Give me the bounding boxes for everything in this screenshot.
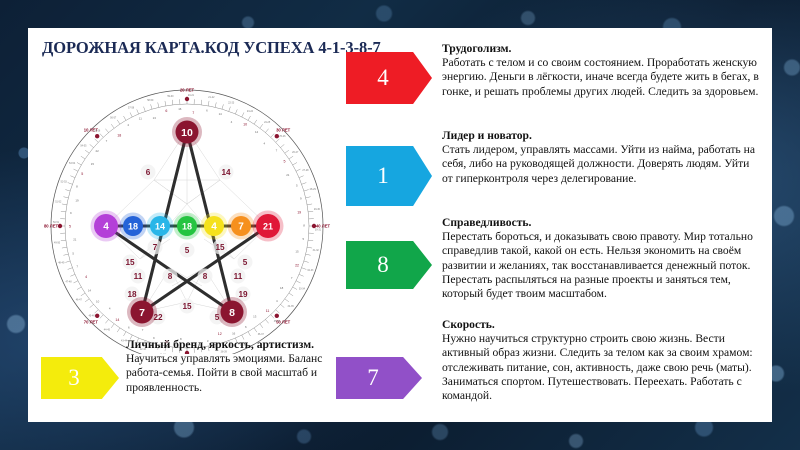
arrow-badge-4[interactable]: 4	[346, 52, 432, 104]
svg-text:15: 15	[295, 250, 299, 254]
svg-text:58-59: 58-59	[147, 99, 154, 102]
svg-text:25-26: 25-26	[279, 135, 286, 138]
svg-text:22: 22	[96, 149, 100, 153]
text-block-leader: Лидер и новатор. Стать лидером, управлят…	[442, 129, 760, 186]
svg-text:8: 8	[303, 224, 305, 228]
svg-text:4: 4	[276, 299, 278, 303]
body-workaholism: Работать с телом и со своим состоянием. …	[442, 56, 759, 97]
text-block-workaholism: Трудоголизм. Работать с телом и со своим…	[442, 42, 760, 99]
svg-text:4: 4	[103, 222, 109, 233]
svg-text:11: 11	[266, 309, 270, 313]
heading-brand: Личный бренд, яркость, артистизм.	[126, 338, 314, 351]
svg-text:18: 18	[127, 290, 137, 299]
svg-text:11: 11	[134, 272, 143, 281]
svg-text:15: 15	[125, 258, 135, 267]
svg-text:21: 21	[263, 222, 273, 232]
svg-text:5: 5	[69, 224, 71, 228]
svg-text:14: 14	[88, 289, 92, 293]
svg-text:4: 4	[127, 123, 129, 127]
svg-text:7: 7	[142, 328, 144, 332]
svg-text:7: 7	[192, 111, 194, 115]
svg-text:48-49: 48-49	[58, 262, 65, 265]
svg-text:7: 7	[76, 264, 78, 268]
svg-text:5: 5	[81, 172, 83, 176]
svg-text:30 ЛЕТ: 30 ЛЕТ	[276, 127, 291, 132]
svg-text:7: 7	[238, 222, 244, 233]
content-card: ДОРОЖНАЯ КАРТА.КОД УСПЕХА 4-1-3-8-7 20 Л…	[28, 28, 772, 422]
svg-text:14: 14	[219, 112, 223, 116]
svg-text:22: 22	[295, 264, 299, 268]
svg-text:70 ЛЕТ: 70 ЛЕТ	[84, 320, 99, 325]
svg-text:32-33: 32-33	[307, 269, 314, 272]
svg-text:53-54: 53-54	[69, 162, 76, 165]
svg-text:49-50: 49-50	[54, 241, 61, 244]
svg-text:4: 4	[231, 120, 233, 124]
svg-text:19: 19	[75, 198, 79, 202]
text-block-justice: Справедливость. Перестать бороться, и до…	[442, 216, 760, 301]
svg-text:36-37: 36-37	[258, 333, 265, 336]
svg-text:7: 7	[153, 243, 158, 252]
svg-text:14: 14	[255, 130, 259, 134]
svg-text:4: 4	[109, 306, 111, 310]
svg-text:23-24: 23-24	[247, 110, 254, 113]
svg-text:80 ЛЕТ: 80 ЛЕТ	[44, 224, 59, 229]
svg-text:6: 6	[146, 168, 151, 177]
svg-text:19: 19	[238, 290, 248, 299]
svg-text:46-47: 46-47	[76, 299, 83, 302]
svg-text:54-55: 54-55	[80, 145, 87, 148]
text-block-brand: Личный бренд, яркость, артистизм. Научит…	[126, 338, 336, 395]
svg-text:55-56: 55-56	[94, 129, 101, 132]
svg-text:16: 16	[232, 331, 236, 335]
svg-text:20-21: 20-21	[188, 94, 195, 97]
svg-text:9: 9	[300, 197, 302, 201]
heading-justice: Справедливость.	[442, 216, 531, 229]
svg-text:22-23: 22-23	[228, 101, 235, 104]
svg-text:18: 18	[117, 134, 121, 138]
svg-text:21: 21	[73, 237, 77, 241]
svg-text:14: 14	[115, 318, 119, 322]
svg-text:52-53: 52-53	[61, 181, 68, 184]
svg-text:19: 19	[297, 211, 301, 215]
svg-text:33-34: 33-34	[299, 288, 306, 291]
body-leader: Стать лидером, управлять массами. Уйти и…	[442, 143, 755, 184]
arrow-badge-7[interactable]: 7	[336, 357, 422, 399]
svg-text:20 ЛЕТ: 20 ЛЕТ	[180, 88, 195, 93]
svg-text:4: 4	[85, 275, 87, 279]
svg-text:24-25: 24-25	[264, 121, 271, 124]
svg-text:13: 13	[253, 314, 257, 318]
svg-text:18: 18	[182, 222, 192, 232]
svg-text:5: 5	[296, 184, 298, 188]
svg-text:5: 5	[284, 159, 286, 163]
svg-text:7: 7	[291, 276, 293, 280]
svg-text:44-45: 44-45	[104, 328, 111, 331]
svg-text:4: 4	[211, 222, 217, 233]
arrow-badge-1-label: 1	[377, 163, 389, 189]
svg-text:47-48: 47-48	[65, 281, 72, 284]
svg-text:16: 16	[178, 107, 182, 111]
svg-text:9: 9	[70, 211, 72, 215]
svg-text:11: 11	[139, 117, 142, 121]
svg-text:8: 8	[168, 272, 173, 281]
svg-text:11: 11	[234, 272, 243, 281]
svg-text:57-58: 57-58	[128, 106, 135, 109]
body-speed: Нужно научиться структурно строить свою …	[442, 332, 753, 402]
svg-text:21-22: 21-22	[208, 96, 215, 99]
svg-text:6: 6	[165, 109, 167, 113]
svg-text:12: 12	[218, 332, 222, 336]
card-corner-notch	[28, 364, 120, 422]
svg-text:6: 6	[245, 325, 247, 329]
svg-text:7: 7	[276, 149, 278, 153]
body-justice: Перестать бороться, и доказывать свою пр…	[442, 230, 753, 300]
svg-text:28-29: 28-29	[310, 188, 317, 191]
svg-text:6: 6	[128, 326, 130, 330]
body-brand: Научиться управлять эмоциями. Баланс раб…	[126, 352, 322, 393]
svg-text:30-31: 30-31	[315, 229, 322, 232]
svg-text:18: 18	[280, 286, 284, 290]
svg-text:45-46: 45-46	[89, 315, 96, 318]
svg-text:50-51: 50-51	[53, 221, 60, 224]
svg-text:35-36: 35-36	[274, 320, 281, 323]
arrow-badge-8[interactable]: 8	[346, 241, 432, 289]
arrow-badge-7-label: 7	[367, 365, 379, 391]
svg-text:15: 15	[215, 243, 225, 252]
svg-text:4: 4	[263, 142, 265, 146]
text-block-speed: Скорость. Нужно научиться структурно стр…	[442, 318, 764, 403]
svg-text:31-32: 31-32	[313, 249, 320, 252]
svg-text:14: 14	[221, 168, 231, 177]
svg-text:15: 15	[91, 162, 95, 166]
svg-text:6: 6	[206, 109, 208, 113]
svg-text:5: 5	[302, 237, 304, 241]
svg-text:7: 7	[106, 139, 108, 143]
svg-text:18: 18	[128, 222, 138, 232]
pentagram-svg: 20 ЛЕТ30 ЛЕТ40 ЛЕТ50 ЛЕТ60 ЛЕТ70 ЛЕТ80 Л…	[30, 54, 370, 354]
arrow-badge-1[interactable]: 1	[346, 146, 432, 206]
svg-text:56-57: 56-57	[110, 117, 117, 120]
svg-text:10: 10	[96, 299, 100, 303]
arrow-badge-8-label: 8	[377, 252, 389, 278]
svg-text:5: 5	[243, 258, 248, 267]
svg-text:29-30: 29-30	[314, 208, 321, 211]
svg-text:10: 10	[243, 122, 247, 126]
svg-text:14: 14	[155, 222, 165, 232]
svg-text:8: 8	[229, 307, 235, 319]
svg-text:51-52: 51-52	[55, 200, 62, 203]
destiny-matrix-diagram: 20 ЛЕТ30 ЛЕТ40 ЛЕТ50 ЛЕТ60 ЛЕТ70 ЛЕТ80 Л…	[30, 54, 370, 354]
svg-text:15: 15	[182, 302, 192, 311]
svg-text:34-35: 34-35	[288, 305, 295, 308]
svg-text:13: 13	[153, 116, 157, 120]
heading-workaholism: Трудоголизм.	[442, 42, 511, 55]
heading-speed: Скорость.	[442, 318, 495, 331]
svg-text:27-28: 27-28	[302, 169, 309, 172]
svg-text:5: 5	[72, 251, 74, 255]
heading-leader: Лидер и новатор.	[442, 129, 532, 142]
svg-text:26-27: 26-27	[292, 151, 299, 154]
svg-text:5: 5	[185, 246, 190, 255]
svg-text:7: 7	[139, 307, 145, 319]
svg-text:8: 8	[203, 272, 208, 281]
svg-text:59-60: 59-60	[167, 95, 174, 98]
svg-text:21: 21	[286, 173, 290, 177]
svg-text:10: 10	[181, 127, 193, 139]
svg-text:8: 8	[76, 184, 78, 188]
arrow-badge-4-label: 4	[377, 65, 389, 91]
